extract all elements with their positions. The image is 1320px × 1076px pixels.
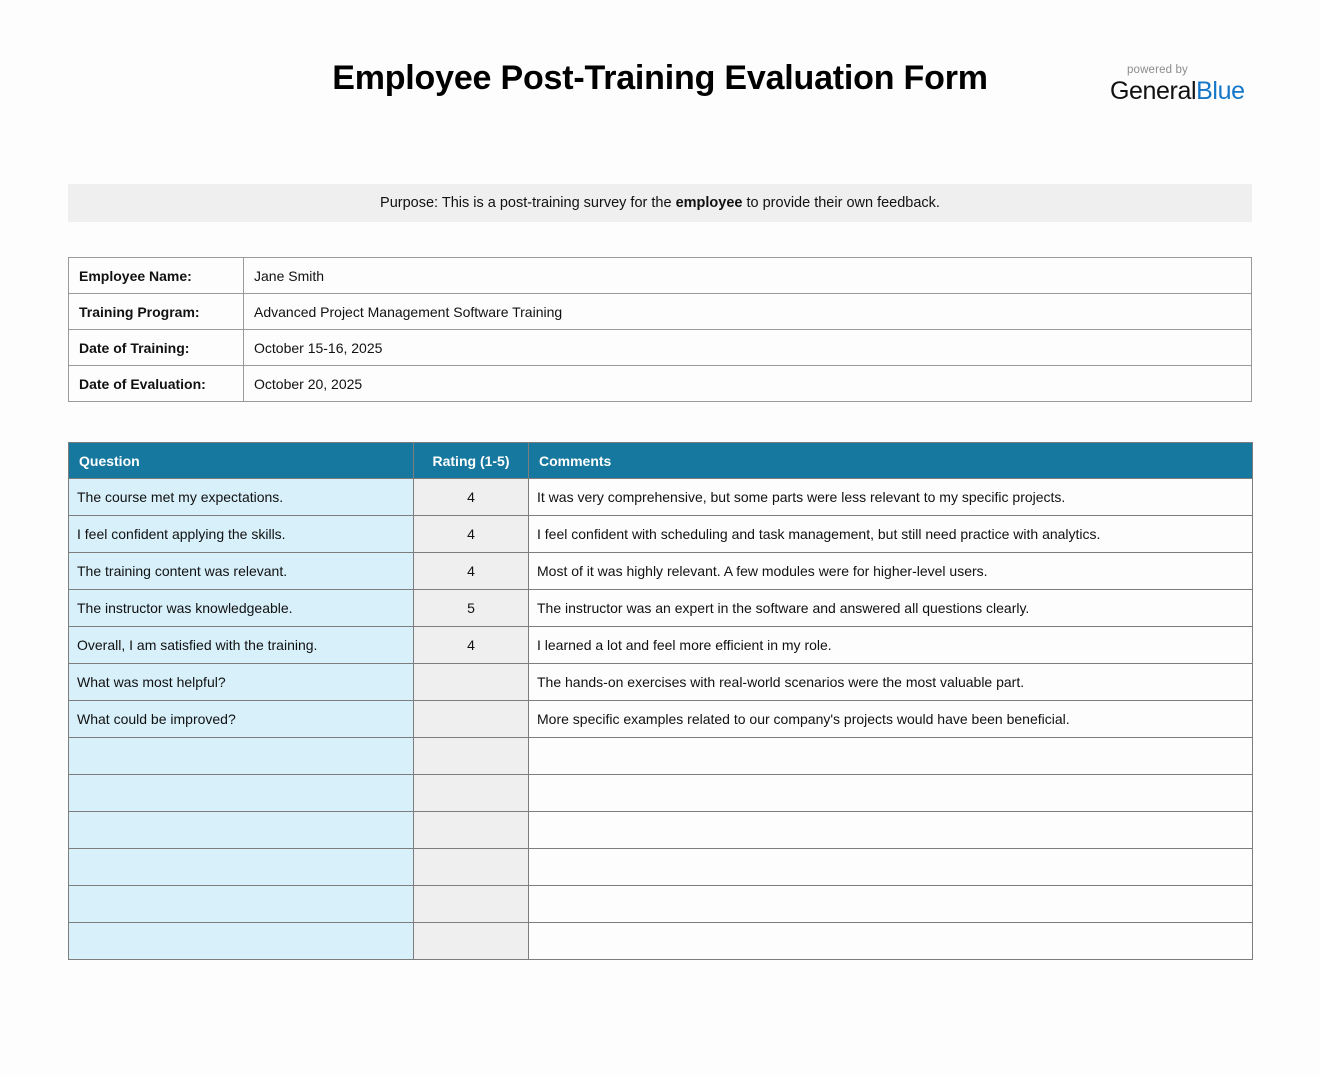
cell-question[interactable] — [69, 849, 414, 886]
brand-logo: powered by GeneralBlue — [1110, 64, 1252, 106]
column-header-question: Question — [69, 443, 414, 479]
cell-comments[interactable] — [529, 886, 1253, 923]
evaluation-table-body: The course met my expectations.4It was v… — [69, 479, 1253, 960]
cell-rating[interactable] — [414, 923, 529, 960]
table-header-row: Question Rating (1-5) Comments — [69, 443, 1253, 479]
cell-question[interactable]: Overall, I am satisfied with the trainin… — [69, 627, 414, 664]
cell-comments[interactable] — [529, 923, 1253, 960]
purpose-prefix: Purpose: This is a post-training survey … — [380, 195, 676, 211]
info-value-training-program[interactable]: Advanced Project Management Software Tra… — [244, 294, 1252, 330]
brand-name: GeneralBlue — [1110, 77, 1252, 106]
cell-rating[interactable]: 4 — [414, 627, 529, 664]
column-header-rating: Rating (1-5) — [414, 443, 529, 479]
cell-question[interactable]: What could be improved? — [69, 701, 414, 738]
training-info-table: Employee Name: Jane Smith Training Progr… — [68, 257, 1252, 402]
info-label-date-of-training: Date of Training: — [69, 330, 244, 366]
cell-comments[interactable]: Most of it was highly relevant. A few mo… — [529, 553, 1253, 590]
table-row — [69, 886, 1253, 923]
info-value-employee-name[interactable]: Jane Smith — [244, 258, 1252, 294]
info-label-training-program: Training Program: — [69, 294, 244, 330]
cell-rating[interactable] — [414, 664, 529, 701]
brand-name-general: General — [1110, 77, 1196, 105]
purpose-emphasis: employee — [676, 195, 743, 211]
evaluation-table-head: Question Rating (1-5) Comments — [69, 443, 1253, 479]
cell-question[interactable] — [69, 923, 414, 960]
cell-comments[interactable]: I learned a lot and feel more efficient … — [529, 627, 1253, 664]
table-row: What could be improved?More specific exa… — [69, 701, 1253, 738]
table-row: Date of Evaluation: October 20, 2025 — [69, 366, 1252, 402]
purpose-banner: Purpose: This is a post-training survey … — [68, 184, 1252, 222]
cell-rating[interactable] — [414, 849, 529, 886]
cell-comments[interactable] — [529, 738, 1253, 775]
cell-question[interactable]: I feel confident applying the skills. — [69, 516, 414, 553]
brand-name-blue: Blue — [1196, 77, 1244, 105]
cell-question[interactable] — [69, 886, 414, 923]
cell-rating[interactable] — [414, 701, 529, 738]
form-page: Employee Post-Training Evaluation Form p… — [0, 56, 1320, 1076]
cell-comments[interactable]: The instructor was an expert in the soft… — [529, 590, 1253, 627]
cell-question[interactable]: What was most helpful? — [69, 664, 414, 701]
cell-rating[interactable] — [414, 775, 529, 812]
page-header: Employee Post-Training Evaluation Form p… — [0, 56, 1320, 124]
table-row: The training content was relevant.4Most … — [69, 553, 1253, 590]
table-row: I feel confident applying the skills.4I … — [69, 516, 1253, 553]
training-info-body: Employee Name: Jane Smith Training Progr… — [69, 258, 1252, 402]
cell-question[interactable] — [69, 738, 414, 775]
cell-question[interactable] — [69, 775, 414, 812]
table-row — [69, 923, 1253, 960]
cell-rating[interactable] — [414, 812, 529, 849]
cell-rating[interactable]: 5 — [414, 590, 529, 627]
cell-comments[interactable] — [529, 812, 1253, 849]
cell-comments[interactable] — [529, 849, 1253, 886]
cell-question[interactable] — [69, 812, 414, 849]
info-value-date-of-evaluation[interactable]: October 20, 2025 — [244, 366, 1252, 402]
table-row: Overall, I am satisfied with the trainin… — [69, 627, 1253, 664]
cell-rating[interactable]: 4 — [414, 553, 529, 590]
info-value-date-of-training[interactable]: October 15-16, 2025 — [244, 330, 1252, 366]
table-row: Employee Name: Jane Smith — [69, 258, 1252, 294]
cell-rating[interactable]: 4 — [414, 479, 529, 516]
cell-rating[interactable] — [414, 886, 529, 923]
table-row: The instructor was knowledgeable.5The in… — [69, 590, 1253, 627]
table-row: What was most helpful?The hands-on exerc… — [69, 664, 1253, 701]
cell-question[interactable]: The course met my expectations. — [69, 479, 414, 516]
cell-comments[interactable]: It was very comprehensive, but some part… — [529, 479, 1253, 516]
evaluation-table: Question Rating (1-5) Comments The cours… — [68, 442, 1253, 960]
table-row: The course met my expectations.4It was v… — [69, 479, 1253, 516]
info-label-date-of-evaluation: Date of Evaluation: — [69, 366, 244, 402]
powered-by-label: powered by — [1110, 64, 1252, 77]
info-label-employee-name: Employee Name: — [69, 258, 244, 294]
cell-comments[interactable] — [529, 775, 1253, 812]
purpose-suffix: to provide their own feedback. — [742, 195, 939, 211]
cell-comments[interactable]: The hands-on exercises with real-world s… — [529, 664, 1253, 701]
cell-comments[interactable]: I feel confident with scheduling and tas… — [529, 516, 1253, 553]
table-row — [69, 775, 1253, 812]
table-row — [69, 738, 1253, 775]
table-row — [69, 812, 1253, 849]
purpose-text: Purpose: This is a post-training survey … — [380, 195, 940, 211]
table-row: Date of Training: October 15-16, 2025 — [69, 330, 1252, 366]
table-row: Training Program: Advanced Project Manag… — [69, 294, 1252, 330]
cell-rating[interactable] — [414, 738, 529, 775]
cell-comments[interactable]: More specific examples related to our co… — [529, 701, 1253, 738]
cell-question[interactable]: The instructor was knowledgeable. — [69, 590, 414, 627]
column-header-comments: Comments — [529, 443, 1253, 479]
cell-rating[interactable]: 4 — [414, 516, 529, 553]
table-row — [69, 849, 1253, 886]
cell-question[interactable]: The training content was relevant. — [69, 553, 414, 590]
